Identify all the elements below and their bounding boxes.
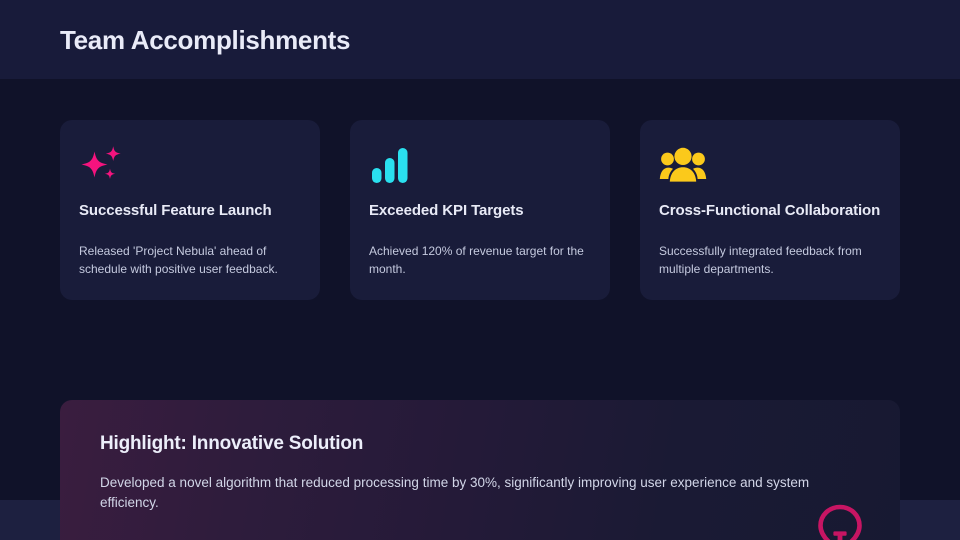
bar-chart-icon [369,144,591,186]
accomplishment-card[interactable]: Exceeded KPI Targets Achieved 120% of re… [350,120,610,300]
lightbulb-icon [812,503,868,540]
highlight-title: Highlight: Innovative Solution [100,433,860,456]
card-title: Successful Feature Launch [79,200,301,221]
accomplishment-card[interactable]: Successful Feature Launch Released 'Proj… [60,120,320,300]
page-title: Team Accomplishments [60,27,350,53]
accomplishment-card-row: Successful Feature Launch Released 'Proj… [60,120,900,300]
card-description: Achieved 120% of revenue target for the … [369,243,591,278]
slide-header: Team Accomplishments [0,0,960,79]
card-title: Exceeded KPI Targets [369,200,591,221]
users-group-icon [659,144,881,186]
slide-canvas: Team Accomplishments Successful Featur [0,0,960,540]
highlight-panel: Highlight: Innovative Solution Developed… [60,400,900,540]
highlight-description: Developed a novel algorithm that reduced… [100,473,840,514]
accomplishment-card[interactable]: Cross-Functional Collaboration Successfu… [640,120,900,300]
card-description: Released 'Project Nebula' ahead of sched… [79,243,301,278]
card-title: Cross-Functional Collaboration [659,200,881,221]
card-description: Successfully integrated feedback from mu… [659,243,881,278]
slide-body: Successful Feature Launch Released 'Proj… [0,79,960,500]
sparkles-icon [79,144,301,186]
